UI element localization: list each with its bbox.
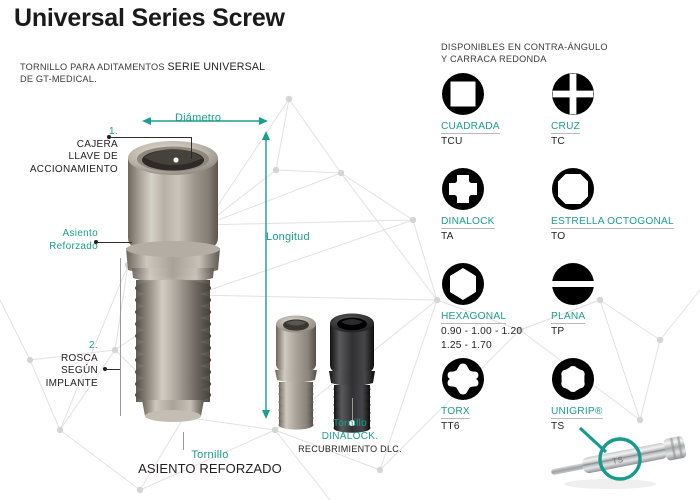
callout-rosca-leader	[106, 369, 120, 370]
cross-socket-icon	[551, 72, 595, 116]
drivers-row: DINALOCK TA ESTRELLA OCTOGONAL TO	[441, 167, 696, 262]
caption-main-leader	[183, 432, 184, 450]
driver-item-dinalock[interactable]: DINALOCK TA	[441, 167, 561, 242]
callout-cajera-line3: ACCIONAMIENTO	[30, 164, 118, 175]
driver-code: TC	[551, 136, 671, 147]
caption-dina-leader	[352, 398, 353, 420]
driver-name: ESTRELLA OCTOGONAL	[551, 216, 674, 229]
callout-rosca: 2. ROSCA SEGÚN IMPLANTE	[10, 340, 98, 390]
callout-rosca-number: 2.	[89, 340, 98, 351]
caption-dina-line3: RECUBRIMIENTO DLC.	[298, 444, 402, 454]
driver-code-2: 1.25 - 1.70	[441, 340, 561, 352]
callout-cajera-line2: LLAVE DE	[69, 151, 118, 162]
caption-dinalock-screw: Tornillo DINALOCK. RECUBRIMIENTO DLC.	[290, 418, 410, 457]
callout-cajera: 1. CAJERA LLAVE DE ACCIONAMIENTO	[8, 126, 118, 176]
driver-item-unigrip[interactable]: UNIGRIP® TS	[551, 357, 671, 432]
driver-name: CUADRADA	[441, 121, 500, 134]
unigrip-socket-icon	[551, 357, 595, 401]
driver-name: TORX	[441, 406, 470, 419]
driver-name: UNIGRIP®	[551, 406, 603, 419]
driver-item-cuadrada[interactable]: CUADRADA TCU	[441, 72, 561, 147]
driver-code: 0.90 - 1.00 - 1.20	[441, 326, 561, 338]
screwdriver-callout: TS	[540, 424, 700, 494]
poster-canvas: Universal Series Screw TORNILLO PARA ADI…	[0, 0, 700, 500]
torx-socket-icon	[441, 357, 485, 401]
intro-caption: TORNILLO PARA ADITAMENTOS SERIE UNIVERSA…	[20, 62, 270, 85]
screwdriver-illustration: TS	[540, 424, 700, 494]
driver-item-torx[interactable]: TORX TT6	[441, 357, 561, 432]
driver-item-cruz[interactable]: CRUZ TC	[551, 72, 671, 147]
callout-asiento-leader	[97, 242, 132, 243]
screwdriver-leader-line	[580, 428, 606, 452]
callout-cajera-leader-h	[110, 137, 192, 138]
square-socket-icon	[441, 72, 485, 116]
driver-code: TA	[441, 231, 561, 242]
drivers-grid: CUADRADA TCU CRUZ TC DINALOCK TA	[441, 72, 696, 452]
callout-asiento: Asiento Reforzado	[10, 228, 98, 253]
drivers-heading-line2: Y CARRACA REDONDA	[441, 54, 547, 64]
driver-item-hexagonal[interactable]: HEXAGONAL 0.90 - 1.00 - 1.20 1.25 - 1.70	[441, 262, 561, 352]
driver-code: TO	[551, 231, 671, 242]
length-dimension-arrow	[255, 130, 277, 420]
callout-rosca-line3: IMPLANTE	[46, 378, 98, 389]
drivers-row: HEXAGONAL 0.90 - 1.00 - 1.20 1.25 - 1.70…	[441, 262, 696, 357]
driver-name: DINALOCK	[441, 216, 495, 229]
caption-main-line1: Tornillo	[191, 449, 228, 461]
length-label: Longitud	[266, 231, 310, 243]
caption-dina-line1: Tornillo	[333, 418, 367, 429]
driver-item-plana[interactable]: PLANA TP	[551, 262, 671, 337]
page-title: Universal Series Screw	[14, 4, 285, 33]
rosca-extent-bracket	[120, 258, 121, 416]
callout-rosca-line1: ROSCA	[61, 353, 98, 364]
driver-name: CRUZ	[551, 121, 580, 134]
driver-code: TP	[551, 326, 671, 337]
driver-code: TCU	[441, 136, 561, 147]
drivers-row: CUADRADA TCU CRUZ TC	[441, 72, 696, 167]
hexagon-socket-icon	[441, 262, 485, 306]
dinalock-socket-icon	[441, 167, 485, 211]
intro-series-name: SERIE UNIVERSAL	[167, 61, 265, 73]
drivers-panel-heading: DISPONIBLES EN CONTRA-ÁNGULO Y CARRACA R…	[441, 42, 691, 65]
caption-dina-line2: DINALOCK.	[322, 431, 379, 442]
caption-main-line2: ASIENTO REFORZADO	[138, 461, 282, 476]
drivers-heading-line1: DISPONIBLES EN CONTRA-ÁNGULO	[441, 42, 608, 52]
callout-asiento-line2: Reforzado	[49, 241, 98, 252]
intro-line-1: TORNILLO PARA ADITAMENTOS	[20, 62, 165, 72]
callout-rosca-line2: SEGÚN	[61, 365, 98, 376]
intro-line-2: DE GT-MEDICAL.	[20, 74, 97, 84]
driver-name: HEXAGONAL	[441, 311, 506, 324]
callout-cajera-line1: CAJERA	[77, 139, 118, 150]
main-screw-illustration	[118, 120, 258, 430]
octagon-socket-icon	[551, 167, 595, 211]
callout-asiento-line1: Asiento	[63, 228, 98, 239]
caption-main-screw: Tornillo ASIENTO REFORZADO	[120, 449, 300, 477]
driver-item-estrella-octogonal[interactable]: ESTRELLA OCTOGONAL TO	[551, 167, 671, 242]
driver-name: PLANA	[551, 311, 585, 324]
slot-socket-icon	[551, 262, 595, 306]
diameter-label: Diámetro	[175, 112, 221, 124]
callout-cajera-leader-v	[191, 137, 192, 159]
